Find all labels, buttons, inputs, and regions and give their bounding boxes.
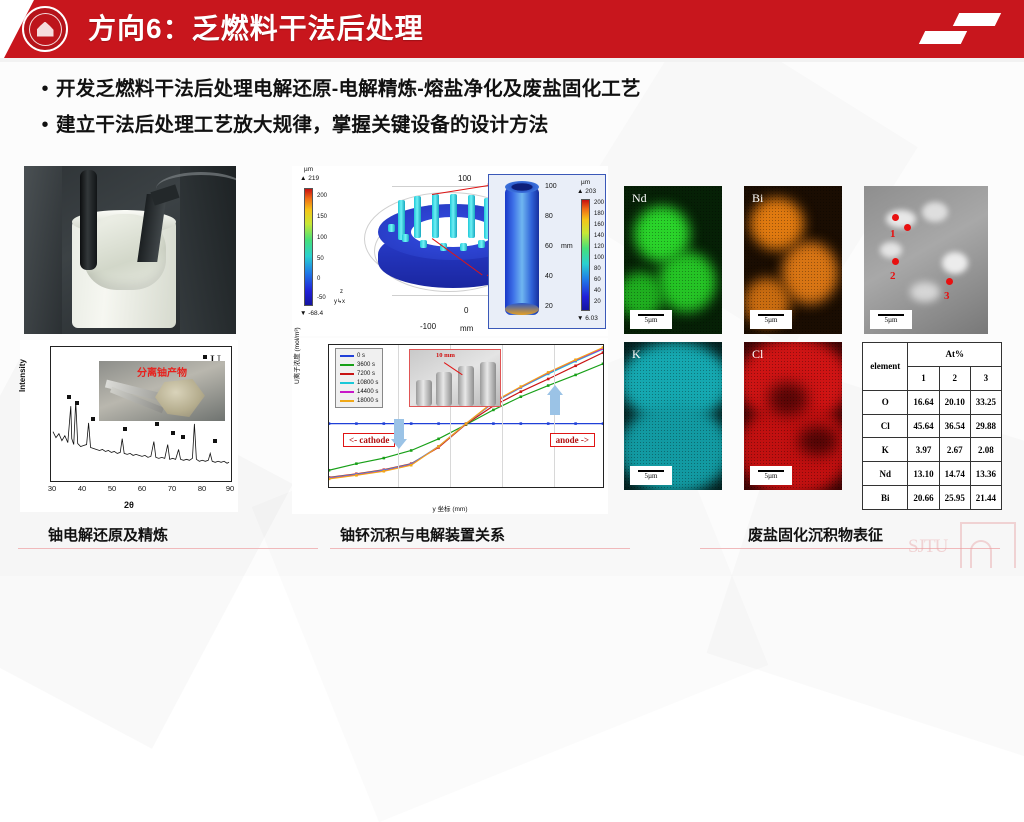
table-row: Cl 45.64 36.54 29.88 xyxy=(863,414,1002,438)
colorbar-tick: 0 xyxy=(317,276,320,282)
scale-bar: 5µm xyxy=(630,466,672,485)
series-marker xyxy=(520,395,523,398)
legend-swatch xyxy=(340,382,354,384)
legend-swatch xyxy=(340,373,354,375)
axis-unit-mm: mm xyxy=(460,324,473,333)
series-marker xyxy=(437,438,440,441)
bullet-list: • 开发乏燃料干法后处理电解还原-电解精炼-熔盐净化及废盐固化工艺 • 建立干法… xyxy=(34,76,934,148)
electrode-pin-short xyxy=(460,243,467,251)
series-marker xyxy=(355,474,358,477)
arrow-stem xyxy=(550,395,560,415)
colorbar-tick: 180 xyxy=(594,211,604,217)
xrd-inset-label: 分离铀产物 xyxy=(137,364,187,379)
table-cell-value: 13.10 xyxy=(908,462,939,486)
watermark-text: SJTU xyxy=(908,536,947,558)
bullet-item: • 开发乏燃料干法后处理电解还原-电解精炼-熔盐净化及废盐固化工艺 xyxy=(34,76,934,103)
table-row: Nd 13.10 14.74 13.36 xyxy=(863,462,1002,486)
xrd-tick: 50 xyxy=(108,484,116,493)
legend-entry: 10800 s xyxy=(340,378,378,387)
xrd-x-axis-label: 2θ xyxy=(124,500,134,510)
seal-emblem xyxy=(37,22,54,37)
series-marker xyxy=(547,371,550,374)
table-col-1: 1 xyxy=(908,366,939,390)
inset-colorbar-unit: µm xyxy=(581,179,590,186)
bullet-text: 开发乏燃料干法后处理电解还原-电解精炼-熔盐净化及废盐固化工艺 xyxy=(56,76,641,103)
caption-middle: 铀钚沉积与电解装置关系 xyxy=(340,524,505,545)
series-marker xyxy=(465,422,468,425)
series-marker xyxy=(574,365,577,368)
sem-image: 1 2 3 5µm xyxy=(864,186,988,334)
table-row: K 3.97 2.67 2.08 xyxy=(863,438,1002,462)
axis-triad-z: z xyxy=(340,289,343,295)
table-cell-value: 2.67 xyxy=(939,438,970,462)
electrode-rod xyxy=(80,170,97,270)
colorbar-tick: 200 xyxy=(594,200,604,206)
table-cell-value: 45.64 xyxy=(908,414,939,438)
tube xyxy=(416,380,432,406)
tube xyxy=(436,372,452,406)
scale-text: 5µm xyxy=(645,472,658,481)
legend-label: 3600 s xyxy=(357,362,375,368)
xrd-peak-marker xyxy=(213,439,217,443)
table-cell-value: 16.64 xyxy=(908,390,939,414)
legend-entry: 7200 s xyxy=(340,369,378,378)
series-marker xyxy=(437,422,440,425)
series-marker xyxy=(329,469,330,472)
gridline-v xyxy=(502,345,503,487)
eds-element-label: K xyxy=(632,347,641,362)
xrd-peak-marker xyxy=(171,431,175,435)
electrode-pin xyxy=(450,194,457,238)
series-marker xyxy=(383,457,386,460)
conc-y-axis-label: U离子浓度 (mol/m³) xyxy=(291,327,301,384)
colorbar-tick: 100 xyxy=(317,235,327,241)
table-row: O 16.64 20.10 33.25 xyxy=(863,390,1002,414)
series-marker xyxy=(355,462,358,465)
table-cell-value: 13.36 xyxy=(970,462,1001,486)
series-marker xyxy=(547,422,550,425)
sem-point-label: 3 xyxy=(944,290,950,302)
down-arrow-icon xyxy=(391,419,407,449)
eds-map-cl: Cl 5µm xyxy=(744,342,842,490)
electrode-pin-short xyxy=(388,224,395,232)
legend-swatch xyxy=(340,391,354,393)
sem-point-label: 2 xyxy=(890,270,896,282)
colorbar-tick: 100 xyxy=(594,255,604,261)
crucible-photo xyxy=(24,166,236,334)
table-cell-value: 36.54 xyxy=(939,414,970,438)
table-cell-element: O xyxy=(863,390,908,414)
colorbar-tick: 140 xyxy=(594,233,604,239)
series-marker xyxy=(520,390,523,393)
scale-bar: 5µm xyxy=(750,466,792,485)
xrd-peak-marker xyxy=(181,435,185,439)
colorbar-max: ▲ 219 xyxy=(300,175,319,182)
arrow-head xyxy=(391,439,407,449)
table-cell-value: 20.10 xyxy=(939,390,970,414)
series-marker xyxy=(520,385,523,388)
comsol-inset-cylinder: 100 80 60 40 20 mm µm ▲ 203 200 180 160 … xyxy=(488,174,606,329)
series-marker xyxy=(602,422,603,425)
header-decoration xyxy=(922,13,998,47)
table-cell-value: 2.08 xyxy=(970,438,1001,462)
cylinder-bottom xyxy=(505,303,539,315)
inset-tick: 20 xyxy=(545,303,553,310)
bullet-marker: • xyxy=(34,112,56,138)
legend-entry: 18000 s xyxy=(340,396,378,405)
series-marker xyxy=(574,422,577,425)
gridline-v xyxy=(554,345,555,487)
series-marker xyxy=(602,351,603,354)
xrd-x-ticks: 30 40 50 60 70 80 90 xyxy=(50,484,232,494)
electrode-pin-short xyxy=(420,240,427,248)
colorbar-gradient xyxy=(582,200,589,310)
electrode-pin-short xyxy=(478,240,485,248)
xrd-peak-marker xyxy=(75,401,79,405)
eds-element-label: Bi xyxy=(752,191,763,206)
eds-map-k: K 5µm xyxy=(624,342,722,490)
caption-left: 铀电解还原及精炼 xyxy=(48,524,168,545)
table-cell-value: 14.74 xyxy=(939,462,970,486)
scale-text: 5µm xyxy=(645,316,658,325)
eds-map-bi: Bi 5µm xyxy=(744,186,842,334)
table-cell-element: Nd xyxy=(863,462,908,486)
table-col-3: 3 xyxy=(970,366,1001,390)
colorbar-tick: 150 xyxy=(317,214,327,220)
table-col-2: 2 xyxy=(939,366,970,390)
series-marker xyxy=(492,422,495,425)
legend-label: 14400 s xyxy=(357,389,378,395)
table-header-element: element xyxy=(863,343,908,391)
xrd-peak-marker xyxy=(203,355,207,359)
xrd-tick: 80 xyxy=(198,484,206,493)
legend-label: 18000 s xyxy=(357,398,378,404)
table-cell-value: 25.95 xyxy=(939,486,970,510)
sem-point-marker xyxy=(946,278,953,285)
xrd-tick: 40 xyxy=(78,484,86,493)
series-marker xyxy=(574,374,577,377)
electrode-pin xyxy=(432,194,439,238)
xrd-tick: 90 xyxy=(226,484,234,493)
eds-composition-table: element At% 1 2 3 O 16.64 20.10 33.25 Cl… xyxy=(862,342,1002,510)
series-marker xyxy=(383,422,386,425)
gridline-v xyxy=(398,345,399,487)
furnace-wall-left xyxy=(24,166,62,334)
series-marker xyxy=(329,478,330,481)
series-marker xyxy=(520,422,523,425)
series-marker xyxy=(574,358,577,361)
colorbar-tick: 120 xyxy=(594,244,604,250)
series-marker xyxy=(547,378,550,381)
bullet-item: • 建立干法后处理工艺放大规律，掌握关键设备的设计方法 xyxy=(34,112,934,139)
decoration-bar xyxy=(919,31,967,44)
sem-point-marker xyxy=(904,224,911,231)
colorbar-tick: -50 xyxy=(317,295,326,301)
sem-bright-particle xyxy=(942,252,968,274)
sem-bright-particle xyxy=(886,210,916,228)
anode-annotation: anode -> xyxy=(550,433,595,447)
arrow-stem xyxy=(394,419,404,439)
legend-entry: 0 s xyxy=(340,351,378,360)
electrode-pin xyxy=(468,195,475,238)
legend-label: 0 s xyxy=(357,353,365,359)
eds-map-nd: Nd 5µm xyxy=(624,186,722,334)
colorbar-gradient xyxy=(305,189,312,305)
colorbar-tick: 200 xyxy=(317,193,327,199)
series-marker xyxy=(602,346,603,349)
colorbar-unit: µm xyxy=(304,166,313,173)
series-marker xyxy=(437,445,440,448)
conc-inset-label: 10 mm xyxy=(436,352,455,359)
xrd-plot-area: U 分离铀产物 xyxy=(50,346,232,482)
scale-text: 5µm xyxy=(885,316,898,325)
arrow-head xyxy=(547,385,563,395)
inset-colorbar-max: ▲ 203 xyxy=(577,188,596,195)
scale-bar: 5µm xyxy=(870,310,912,329)
table-cell-value: 20.66 xyxy=(908,486,939,510)
table-cell-value: 33.25 xyxy=(970,390,1001,414)
sem-point-marker xyxy=(892,214,899,221)
bullet-text: 建立干法后处理工艺放大规律，掌握关键设备的设计方法 xyxy=(56,112,549,139)
series-marker xyxy=(329,422,330,425)
legend-entry: 3600 s xyxy=(340,360,378,369)
table-cell-value: 3.97 xyxy=(908,438,939,462)
xrd-peak-marker xyxy=(67,395,71,399)
header-underline xyxy=(0,58,1024,62)
concentration-chart: U离子浓度 (mol/m³) 280 260 240 220 200 180 1… xyxy=(292,338,608,514)
table-cell-element: Bi xyxy=(863,486,908,510)
arch-icon xyxy=(970,540,992,568)
xrd-tick: 60 xyxy=(138,484,146,493)
conc-legend: 0 s 3600 s 7200 s 10800 s 14400 s xyxy=(335,348,383,408)
sem-bright-particle xyxy=(880,242,902,258)
xrd-peak-marker xyxy=(91,417,95,421)
colorbar-min: ▼ -68.4 xyxy=(300,310,323,317)
conc-inset-geometry: 10 mm xyxy=(409,349,501,407)
series-marker xyxy=(410,464,413,467)
series-marker xyxy=(602,362,603,365)
legend-swatch xyxy=(340,364,354,366)
caption-right: 废盐固化沉积物表征 xyxy=(748,524,883,545)
axis-tick-x-top: 100 xyxy=(458,174,471,183)
sjtu-seal-icon xyxy=(22,6,68,52)
colorbar-right: 200 180 160 140 120 100 80 60 40 20 xyxy=(581,199,590,311)
xrd-tick: 30 xyxy=(48,484,56,493)
scale-text: 5µm xyxy=(765,472,778,481)
xrd-peak-marker xyxy=(155,422,159,426)
series-marker xyxy=(492,409,495,412)
eds-element-label: Nd xyxy=(632,191,647,206)
table-cell-value: 29.88 xyxy=(970,414,1001,438)
axis-tick-x-mid: 0 xyxy=(464,306,468,315)
tube xyxy=(480,362,496,406)
axis-triad-icon: y↳x xyxy=(334,298,345,305)
colorbar-tick: 60 xyxy=(594,277,601,283)
legend-swatch xyxy=(340,400,354,402)
inset-tick: 40 xyxy=(545,273,553,280)
xrd-tick: 70 xyxy=(168,484,176,493)
comsol-3d-panel: µm ▲ 219 200 150 100 50 0 -50 ▼ -68.4 xyxy=(292,166,608,336)
eds-element-label: Cl xyxy=(752,347,763,362)
inset-tick: 60 xyxy=(545,243,553,250)
sem-point-marker xyxy=(892,258,899,265)
conc-plot-area: 280 260 240 220 200 180 160 140 120 100 … xyxy=(328,344,604,488)
seal-inner-ring xyxy=(29,13,62,46)
electrode-pin-short xyxy=(402,234,409,242)
table-cell-element: Cl xyxy=(863,414,908,438)
table-header-row: element At% xyxy=(863,343,1002,367)
legend-label: 10800 s xyxy=(357,380,378,386)
legend-swatch xyxy=(340,355,354,357)
electrode-pin xyxy=(414,196,421,238)
table-cell-element: K xyxy=(863,438,908,462)
cylinder-top xyxy=(505,181,539,193)
colorbar-tick: 40 xyxy=(594,288,601,294)
scale-bar: 5µm xyxy=(630,310,672,329)
uranium-product xyxy=(155,379,207,417)
sem-point-label: 1 xyxy=(890,228,896,240)
xrd-y-axis-label: Intensity xyxy=(18,359,27,392)
table-row: Bi 20.66 25.95 21.44 xyxy=(863,486,1002,510)
cathode-annotation: <- cathode xyxy=(343,433,395,447)
inset-unit: mm xyxy=(561,243,573,250)
electrode-cylinder xyxy=(505,187,539,315)
axis-tick-x-bottom: -100 xyxy=(420,322,436,331)
inset-tick: 100 xyxy=(545,183,557,190)
legend-entry: 14400 s xyxy=(340,387,378,396)
table-header-at: At% xyxy=(908,343,1002,367)
sjtu-watermark: SJTU xyxy=(908,516,1018,574)
bullet-marker: • xyxy=(34,76,56,102)
sem-bright-particle xyxy=(922,202,948,222)
slide-root: 方向6：乏燃料干法后处理 • 开发乏燃料干法后处理电解还原-电解精炼-熔盐净化及… xyxy=(0,0,1024,576)
sem-bright-particle xyxy=(910,282,940,302)
series-marker xyxy=(410,422,413,425)
inset-tick: 80 xyxy=(545,213,553,220)
decoration-bar xyxy=(953,13,1001,26)
series-marker xyxy=(410,449,413,452)
inset-colorbar-min: ▼ 6.03 xyxy=(577,315,598,322)
colorbar-tick: 20 xyxy=(594,299,601,305)
scale-bar: 5µm xyxy=(750,310,792,329)
caption-rule xyxy=(330,548,630,549)
colorbar-left: 200 150 100 50 0 -50 xyxy=(304,188,313,306)
caption-rule xyxy=(18,548,318,549)
conc-x-axis-label: y 坐标 (mm) xyxy=(432,503,467,513)
series-marker xyxy=(355,422,358,425)
xrd-chart: Intensity U 分离铀产物 30 40 xyxy=(20,340,238,512)
page-title: 方向6：乏燃料干法后处理 xyxy=(88,6,424,52)
legend-label: 7200 s xyxy=(357,371,375,377)
up-arrow-icon xyxy=(547,385,563,415)
scale-text: 5µm xyxy=(765,316,778,325)
colorbar-tick: 50 xyxy=(317,256,324,262)
slide-header: 方向6：乏燃料干法后处理 xyxy=(0,0,1024,60)
series-marker xyxy=(383,470,386,473)
table-cell-value: 21.44 xyxy=(970,486,1001,510)
colorbar-tick: 80 xyxy=(594,266,601,272)
xrd-peak-marker xyxy=(123,427,127,431)
xrd-inset-photo: 分离铀产物 xyxy=(99,361,225,421)
colorbar-tick: 160 xyxy=(594,222,604,228)
